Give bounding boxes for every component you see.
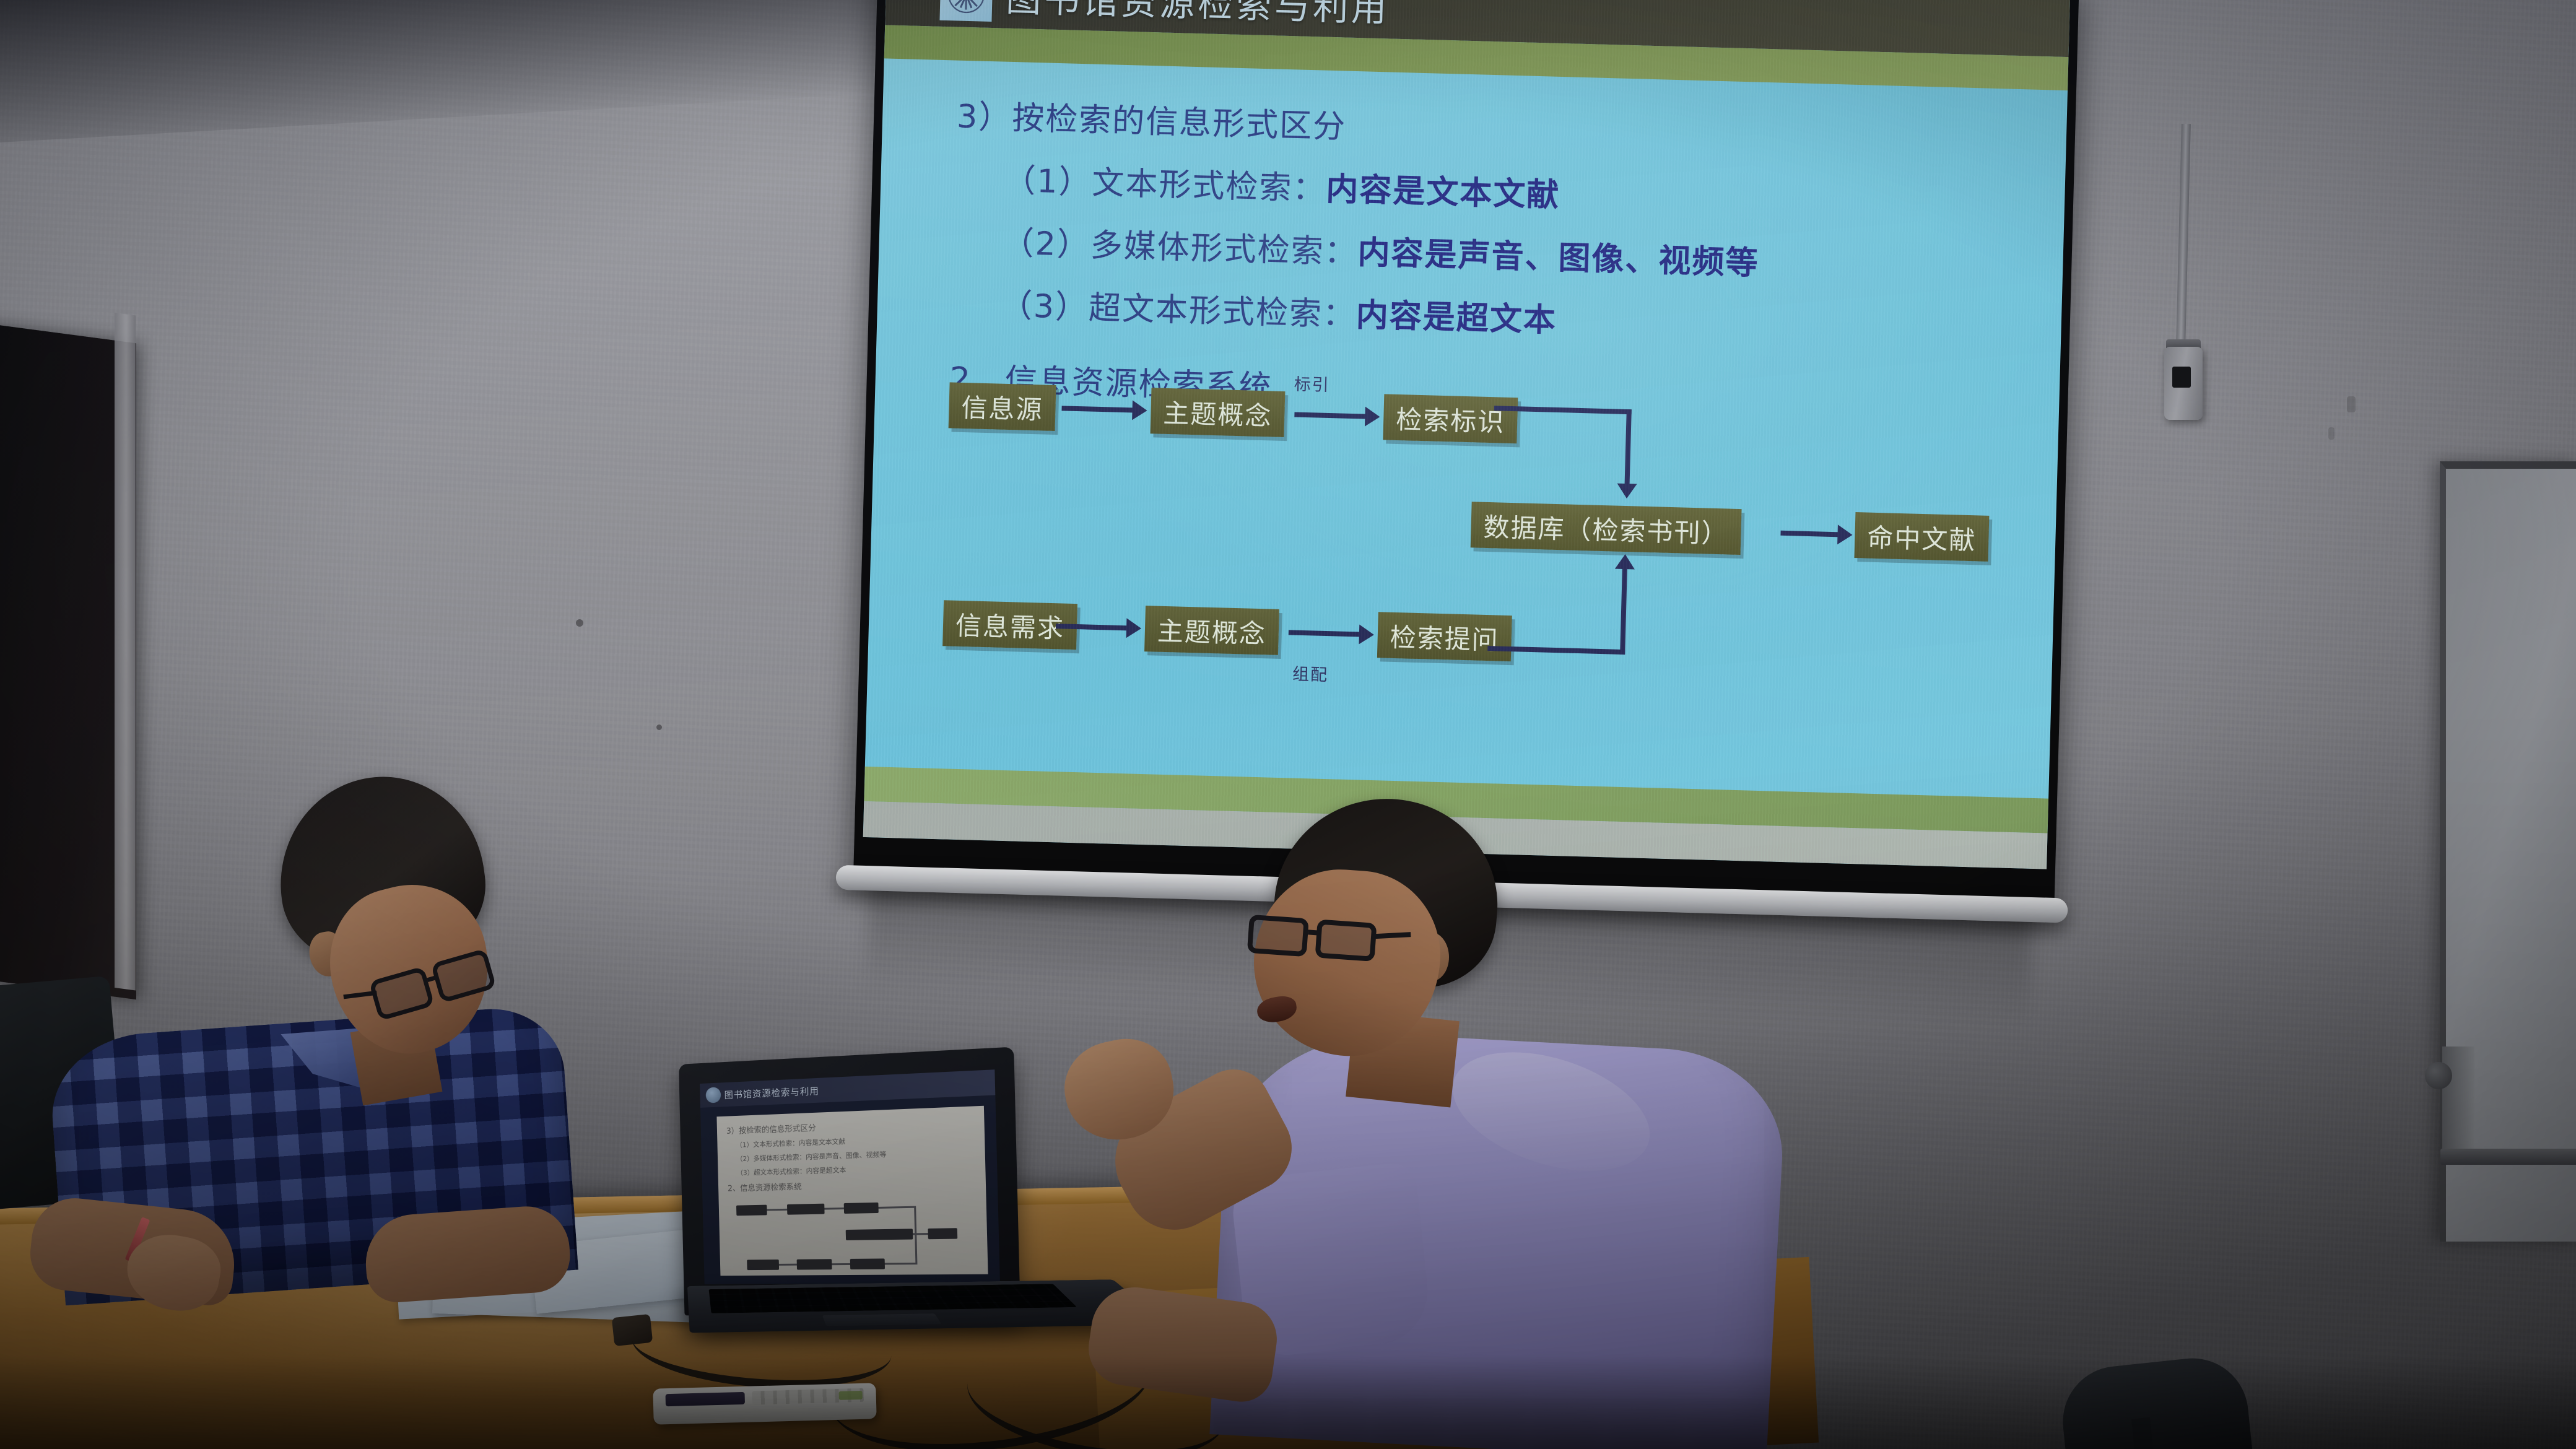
photo-vignette: [0, 0, 2576, 1449]
classroom-photo: 图书馆资源检索与利用 3）按检索的信息形式区分 （1）文本形式检索：内容是文本文…: [0, 0, 2576, 1449]
